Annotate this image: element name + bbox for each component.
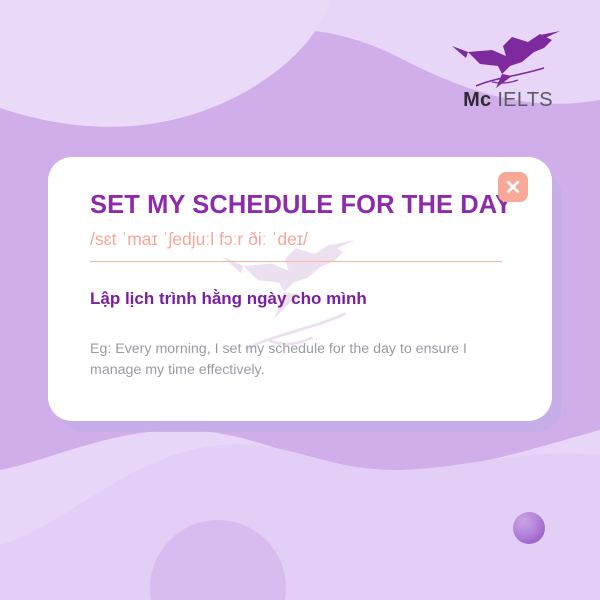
vocabulary-card: SET MY SCHEDULE FOR THE DAY /sɛt ˈmaɪ ˈʃ…: [48, 157, 552, 421]
example-sentence: Eg: Every morning, I set my schedule for…: [90, 339, 490, 381]
brand-name-ielts: IELTS: [497, 89, 553, 111]
translation-text: Lập lịch trình hằng ngày cho mình: [90, 288, 510, 310]
brand-name-mc: Mc: [463, 89, 491, 111]
flashcard-poster: Mc IELTS SET MY SCHEDULE FOR THE DAY /sɛ…: [0, 0, 600, 600]
close-icon: [498, 172, 528, 202]
phonetic-transcription: /sɛt ˈmaɪ ˈʃedjuːl fɔːr ðiː ˈdeɪ/: [90, 228, 510, 250]
gradient-sphere: [513, 512, 545, 544]
close-button[interactable]: [498, 172, 528, 202]
page-title: SET MY SCHEDULE FOR THE DAY: [90, 190, 510, 220]
brand-name: Mc IELTS: [448, 89, 568, 111]
hummingbird-icon: [448, 26, 568, 88]
divider: [90, 261, 502, 262]
brand-logo: Mc IELTS: [448, 26, 568, 118]
card-content: SET MY SCHEDULE FOR THE DAY /sɛt ˈmaɪ ˈʃ…: [48, 157, 552, 381]
